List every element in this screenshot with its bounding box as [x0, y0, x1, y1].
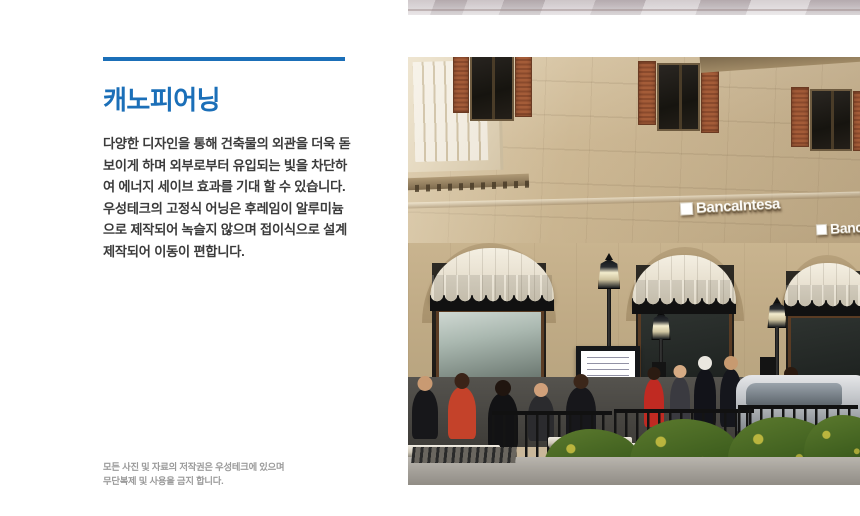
lamp-lantern [768, 302, 787, 328]
bank-logo-mark [816, 223, 828, 235]
person-head [724, 356, 738, 370]
window-shutter [638, 61, 656, 125]
person-head [674, 365, 687, 378]
page-title: 캐노피어닝 [103, 86, 220, 116]
person-head [648, 367, 661, 380]
pavement-strip-photo [408, 0, 860, 15]
facade-window [657, 63, 700, 131]
person-head [455, 373, 470, 389]
window-mullion [679, 65, 682, 129]
accent-bar [103, 57, 345, 61]
seated-person [448, 387, 476, 439]
body-line: 보이게 하며 외부로부터 유입되는 빛을 차단하 [103, 155, 371, 177]
copyright-note: 모든 사진 및 자료의 저작권은 우성테크에 있으며 무단복제 및 사용을 금지… [103, 460, 353, 488]
window-shutter [853, 91, 860, 151]
facade-window [470, 57, 514, 121]
bank-logo-mark [680, 202, 694, 216]
copyright-line: 모든 사진 및 자료의 저작권은 우성테크에 있으며 [103, 460, 353, 474]
window-mullion [831, 91, 834, 149]
floor-grate [411, 447, 517, 463]
body-line: 다양한 디자인을 통해 건축물의 외관을 더욱 돋 [103, 133, 371, 155]
window-shutter [701, 65, 719, 133]
awning-valance [430, 295, 554, 311]
facade-window [810, 89, 852, 151]
person-head [574, 374, 589, 389]
lamp-lantern [652, 314, 671, 340]
body-line: 으로 제작되어 녹슬지 않으며 접이식으로 설계 [103, 219, 371, 241]
awning-valance [784, 300, 860, 316]
body-line: 제작되어 이동이 편합니다. [103, 241, 371, 263]
pavement-seam [408, 9, 860, 11]
text-column: 캐노피어닝 다양한 디자인을 통해 건축물의 외관을 더욱 돋 보이게 하며 외… [103, 0, 363, 516]
bank-sign-text: BancaIntesa [830, 217, 860, 237]
lamp-lantern [598, 259, 620, 289]
car-window [746, 383, 842, 405]
pavement-texture [408, 0, 860, 15]
person-head [495, 380, 511, 396]
railing-rail [738, 405, 858, 409]
railing-rail [614, 409, 754, 413]
lamp-finial [605, 253, 613, 260]
window-shutter [453, 57, 469, 113]
window-shutter [515, 57, 532, 117]
window-shutter [791, 87, 809, 147]
window-mullion [492, 57, 495, 119]
person-head [698, 356, 712, 370]
body-line: 우성테크의 고정식 어닝은 후레임이 알루미늄 [103, 198, 371, 220]
seated-person [412, 389, 438, 439]
railing-rail [492, 411, 612, 415]
slide-page: 캐노피어닝 다양한 디자인을 통해 건축물의 외관을 더욱 돋 보이게 하며 외… [0, 0, 860, 516]
copyright-line: 무단복제 및 사용을 금지 합니다. [103, 474, 353, 488]
body-line: 여 에너지 세이브 효과를 기대 할 수 있습니다. [103, 176, 371, 198]
person-head [534, 383, 548, 397]
building-awning-photo: BancaIntesa BancaIntesa [408, 57, 860, 485]
body-paragraph: 다양한 디자인을 통해 건축물의 외관을 더욱 돋 보이게 하며 외부로부터 유… [103, 133, 371, 262]
person-head [418, 376, 433, 391]
